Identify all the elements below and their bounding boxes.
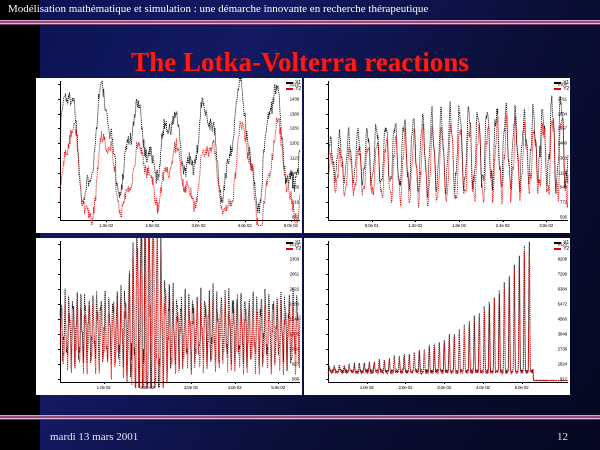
series-canvas [304,78,570,233]
legend-swatch-icon [554,88,561,90]
chart-panel-top-right: 21682011183416571480130311269497725956.0… [304,78,570,233]
legend-label: Y2 [295,246,301,252]
header-title: Modélisation mathématique et simulation … [8,3,592,16]
legend-swatch-icon [286,242,293,244]
legend-swatch-icon [286,248,293,250]
series-canvas [304,238,570,395]
series-canvas [36,238,302,395]
footer-page-number: 12 [557,431,568,443]
footer-date: mardi 13 mars 2001 [50,431,138,443]
legend-item-y2: Y2 [554,86,569,92]
chart-panel-bottom-right: 9120820872966384547245603648273618249121… [304,238,570,395]
page-title: The Lotka-Volterra reactions [0,47,600,78]
footer-divider [0,415,600,421]
legend-label: Y2 [563,86,569,92]
chart-legend: Y1Y2 [554,80,569,92]
legend-swatch-icon [554,82,561,84]
series-line-y2 [328,252,568,381]
plot-area: 15191439136012811202112310439659168721.0… [36,78,302,233]
chart-panel-top-left: 15191439136012811202112310439659168721.0… [36,78,302,233]
series-canvas [36,78,302,233]
plot-area: 21682011183416571480130311269497725956.0… [304,78,570,233]
legend-swatch-icon [554,248,561,250]
legend-label: Y2 [563,246,569,252]
chart-legend: Y1Y2 [554,240,569,252]
series-line-y1 [60,78,300,213]
series-line-y1 [328,242,568,381]
series-line-y1 [60,238,300,388]
legend-swatch-icon [286,88,293,90]
plot-area: 251423032061202217831544130510638275881.… [36,238,302,395]
slide: Modélisation mathématique et simulation … [0,0,600,450]
legend-swatch-icon [554,242,561,244]
plot-area: 9120820872966384547245603648273618249121… [304,238,570,395]
legend-swatch-icon [286,82,293,84]
chart-panel-bottom-left: 251423032061202217831544130510638275881.… [36,238,302,395]
legend-label: Y2 [295,86,301,92]
legend-item-y2: Y2 [286,86,301,92]
header-divider [0,20,600,26]
chart-legend: Y1Y2 [286,240,301,252]
legend-item-y2: Y2 [554,246,569,252]
legend-item-y2: Y2 [286,246,301,252]
chart-legend: Y1Y2 [286,80,301,92]
